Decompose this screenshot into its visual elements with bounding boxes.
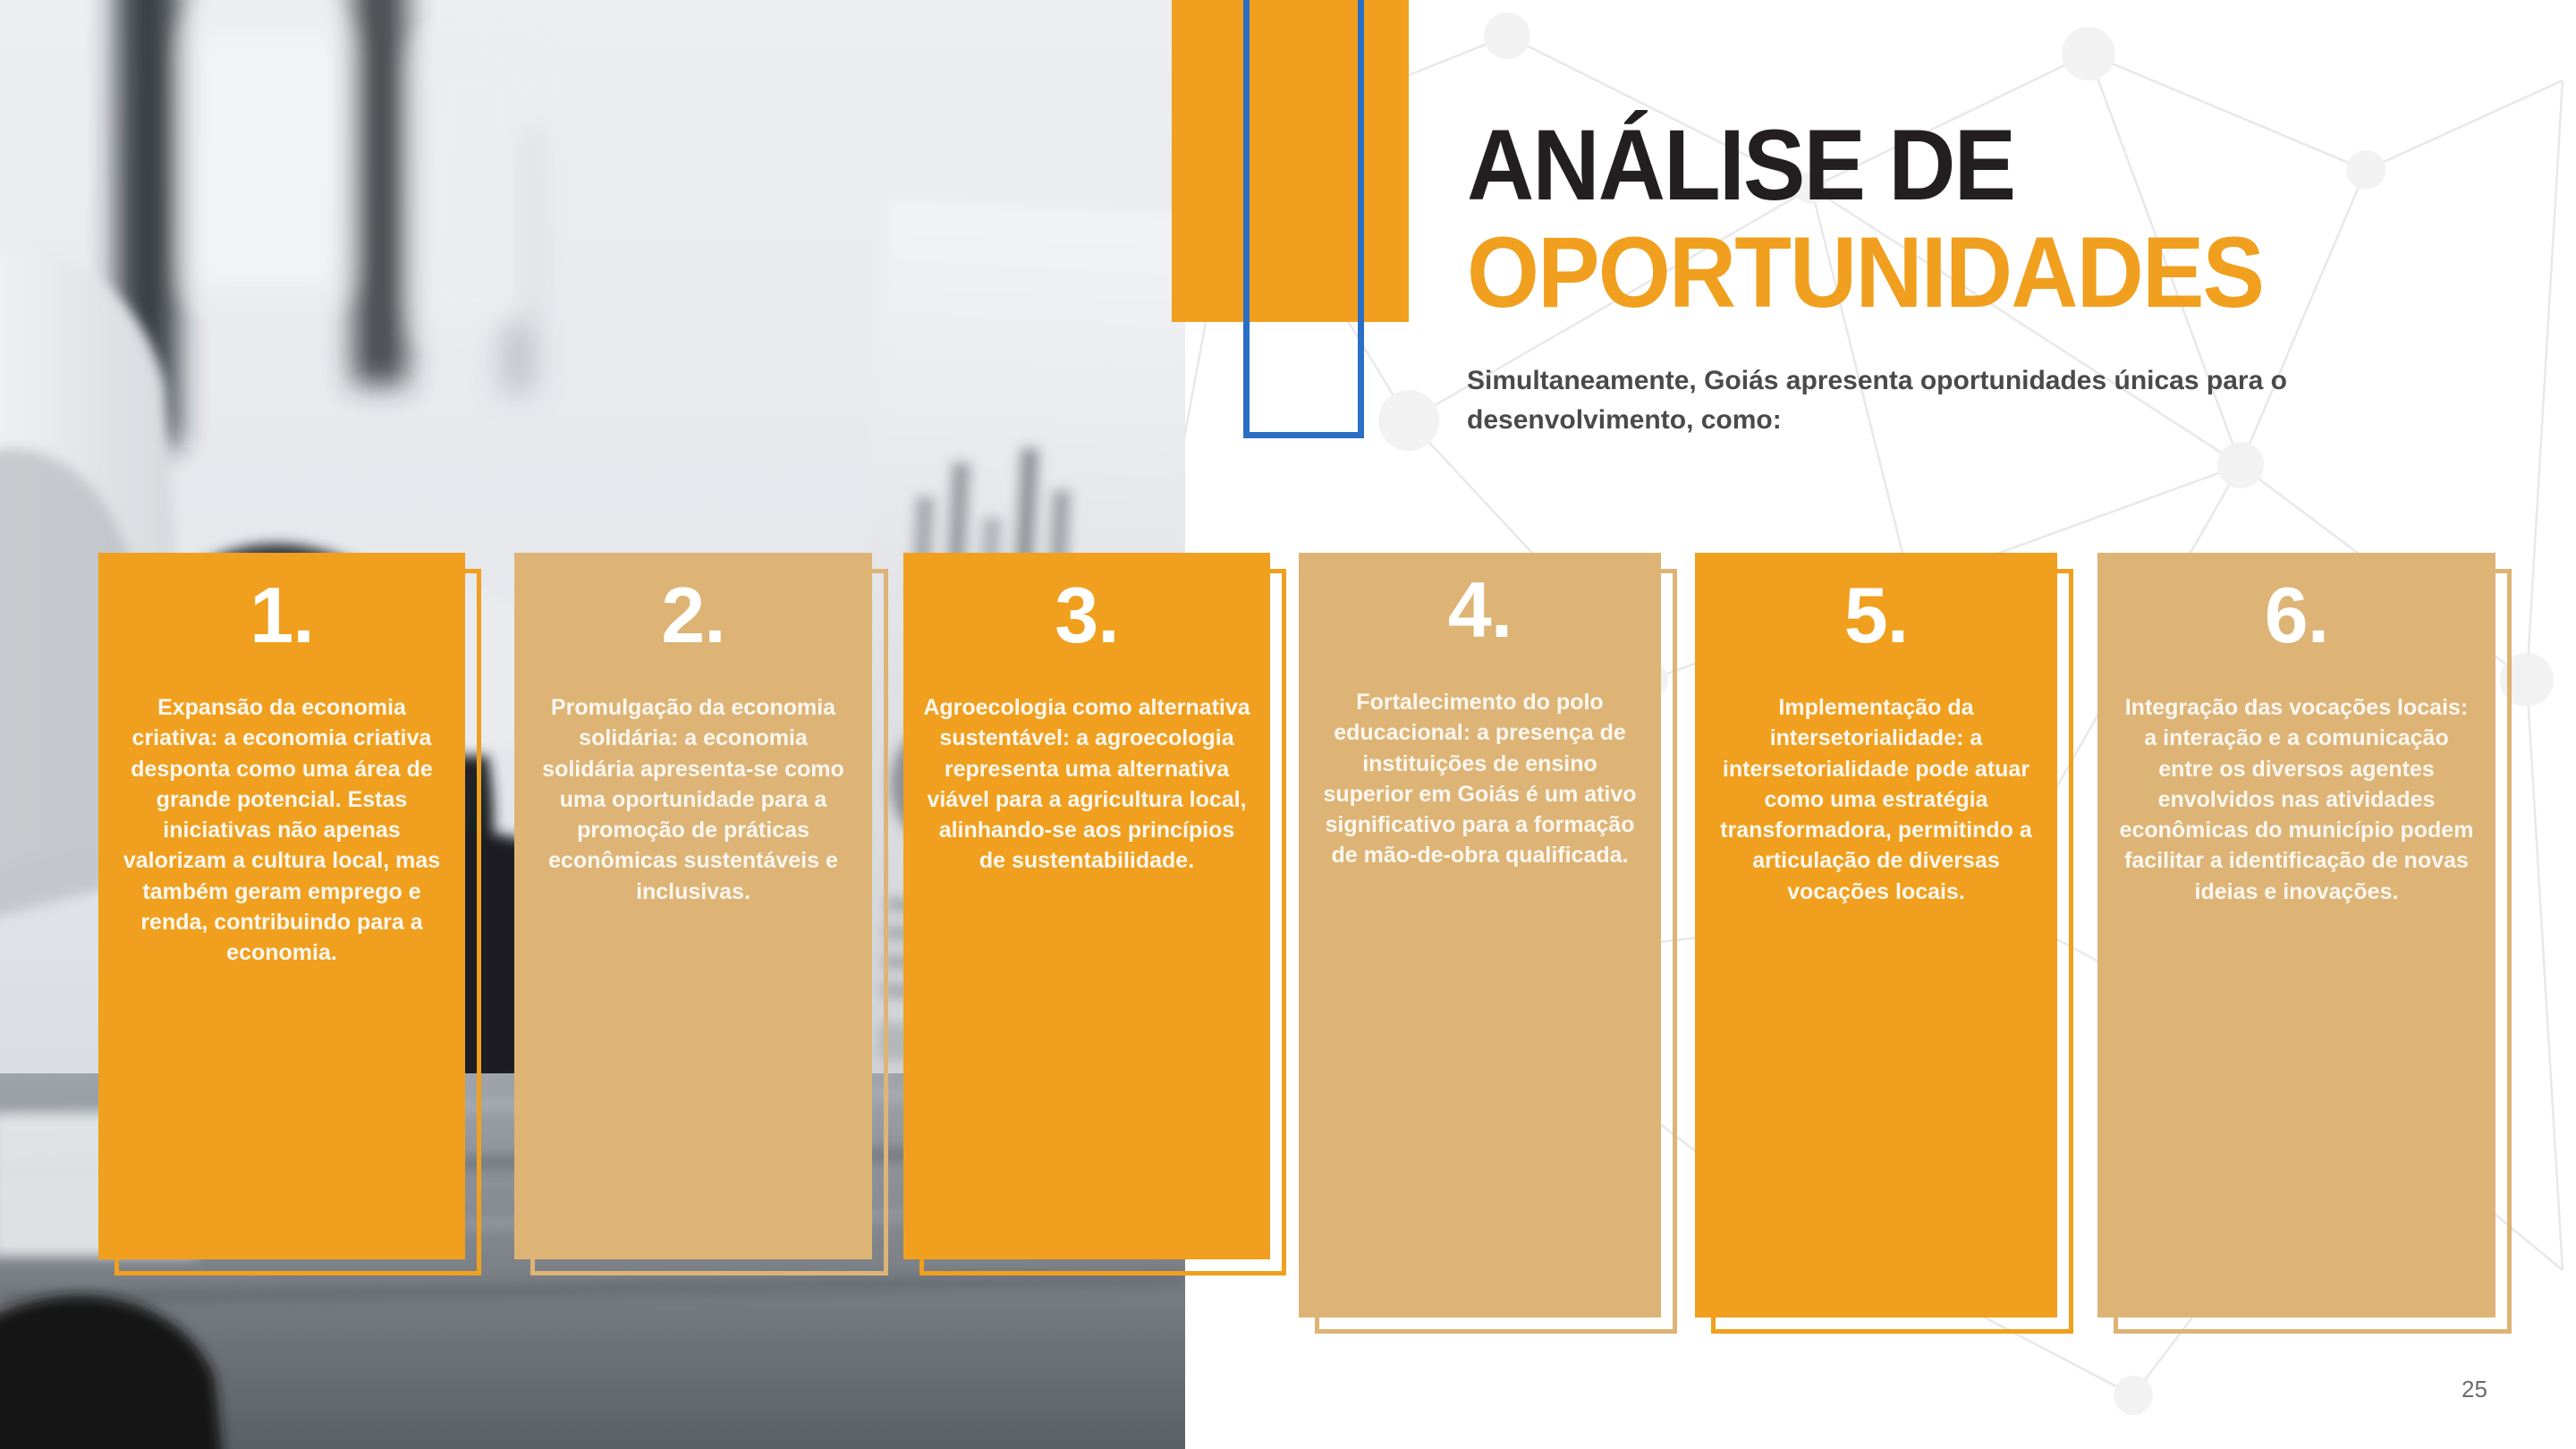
card-2[interactable]: 2. Promulgação da economia solidária: a … xyxy=(514,553,872,1259)
accent-frame-blue xyxy=(1243,0,1364,438)
cards-row: 1. Expansão da economia criativa: a econ… xyxy=(0,553,2576,1358)
card-1-number: 1. xyxy=(250,576,313,655)
card-3-body[interactable]: 3. Agroecologia como alternativa sustent… xyxy=(903,553,1270,1259)
header: ANÁLISE DE OPORTUNIDADES Simultaneamente… xyxy=(1467,114,2522,439)
card-2-text: Promulgação da economia solidária: a eco… xyxy=(534,692,852,907)
card-5-number: 5. xyxy=(1844,576,1908,655)
card-4-body[interactable]: 4. Fortalecimento do polo educacional: a… xyxy=(1299,553,1661,1318)
card-6-number: 6. xyxy=(2265,576,2328,655)
card-1-body[interactable]: 1. Expansão da economia criativa: a econ… xyxy=(98,553,465,1259)
page-number: 25 xyxy=(2462,1376,2487,1403)
page-title-line2: OPORTUNIDADES xyxy=(1467,222,2448,324)
card-6-text: Integração das vocações locais: a intera… xyxy=(2117,692,2476,907)
card-1[interactable]: 1. Expansão da economia criativa: a econ… xyxy=(98,553,465,1259)
card-4[interactable]: 4. Fortalecimento do polo educacional: a… xyxy=(1299,553,1661,1318)
card-6-body[interactable]: 6. Integração das vocações locais: a int… xyxy=(2097,553,2495,1318)
page-subtitle: Simultaneamente, Goiás apresenta oportun… xyxy=(1467,361,2361,439)
card-5[interactable]: 5. Implementação da intersetorialidade: … xyxy=(1695,553,2057,1318)
card-6[interactable]: 6. Integração das vocações locais: a int… xyxy=(2097,553,2495,1318)
card-4-text: Fortalecimento do polo educacional: a pr… xyxy=(1318,687,1641,871)
card-3-number: 3. xyxy=(1055,576,1118,655)
page-title-line1: ANÁLISE DE xyxy=(1467,114,2448,216)
card-3-text: Agroecologia como alternativa sustentáve… xyxy=(923,692,1250,877)
card-2-number: 2. xyxy=(661,576,724,655)
card-5-body[interactable]: 5. Implementação da intersetorialidade: … xyxy=(1695,553,2057,1318)
card-2-body[interactable]: 2. Promulgação da economia solidária: a … xyxy=(514,553,872,1259)
slide-root: ANÁLISE DE OPORTUNIDADES Simultaneamente… xyxy=(0,0,2576,1449)
card-4-number: 4. xyxy=(1448,571,1512,649)
card-5-text: Implementação da intersetorialidade: a i… xyxy=(1715,692,2038,907)
card-3[interactable]: 3. Agroecologia como alternativa sustent… xyxy=(903,553,1270,1259)
card-1-text: Expansão da economia criativa: a economi… xyxy=(118,692,445,968)
